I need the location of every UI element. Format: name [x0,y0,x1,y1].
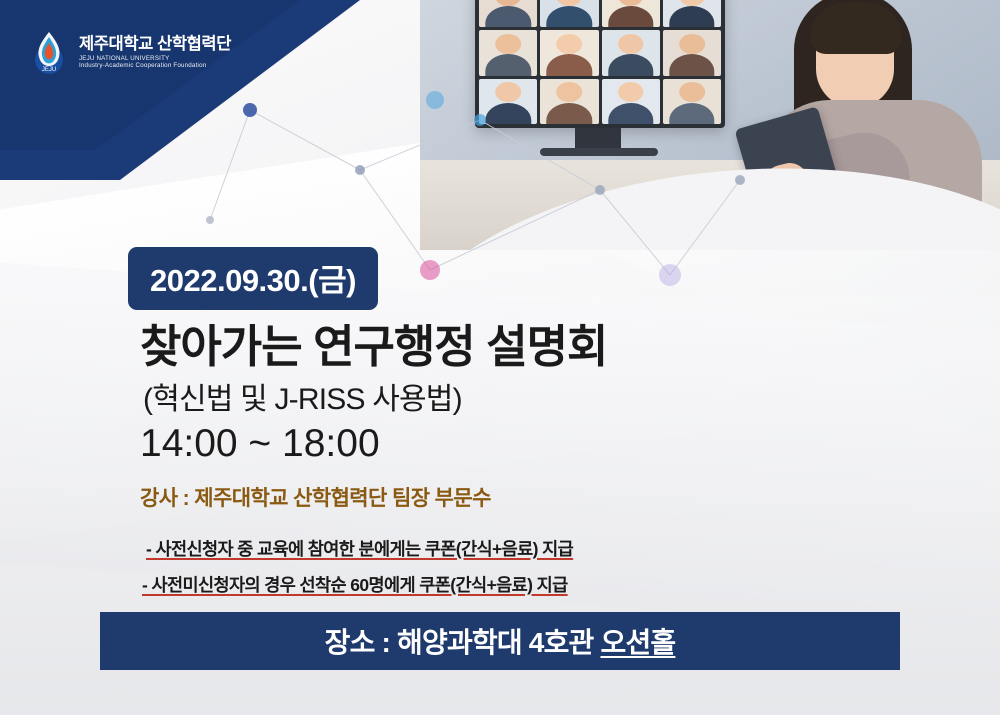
video-participant-tile [663,0,721,27]
logo-english-line2: Industry-Academic Cooperation Foundation [79,63,231,70]
event-place-label: 장소 : 해양과학대 4호관 [325,627,601,658]
video-call-monitor [475,0,725,128]
video-participant-tile [663,79,721,124]
event-note-1: - 사전신청자 중 교육에 참여한 분에게는 쿠폰(간식+음료) 지급 [146,536,573,561]
video-participant-tile [479,0,537,27]
logo-english-line1: JEJU NATIONAL UNIVERSITY [79,56,231,63]
video-participant-tile [540,0,598,27]
video-participant-tile [479,79,537,124]
event-time: 14:00 ~ 18:00 [140,422,380,466]
video-participant-tile [479,30,537,75]
event-note-1-text: - 사전신청자 중 교육에 참여한 분에게는 쿠폰(간식+음료) 지급 [146,539,573,559]
logo-text-block: 제주대학교 산학협력단 JEJU NATIONAL UNIVERSITY Ind… [79,36,231,70]
video-participant-grid [479,0,721,124]
poster-canvas: JEJU 제주대학교 산학협력단 JEJU NATIONAL UNIVERSIT… [0,0,1000,715]
monitor-base [540,148,658,156]
svg-text:JEJU: JEJU [42,67,56,73]
jeju-national-university-flame-logo: JEJU [28,30,70,76]
hair-front [810,2,902,54]
video-participant-tile [540,79,598,124]
video-participant-tile [602,79,660,124]
logo-korean-name: 제주대학교 산학협력단 [79,36,231,54]
video-participant-tile [602,30,660,75]
video-conference-photo [420,0,1000,250]
event-date-badge: 2022.09.30.(금) [128,247,378,310]
event-note-2: - 사전미신청자의 경우 선착순 60명에게 쿠폰(간식+음료) 지급 [142,572,568,597]
event-place-bar: 장소 : 해양과학대 4호관 오션홀 [100,612,900,670]
video-participant-tile [602,0,660,27]
video-participant-tile [663,30,721,75]
event-note-2-text: - 사전미신청자의 경우 선착순 60명에게 쿠폰(간식+음료) 지급 [142,575,568,595]
event-place-venue: 오션홀 [600,627,675,658]
event-place-text: 장소 : 해양과학대 4호관 오션홀 [325,621,676,661]
event-lecturer: 강사 : 제주대학교 산학협력단 팀장 부문수 [140,482,491,512]
video-participant-tile [540,30,598,75]
monitor-stand [575,128,621,150]
event-subtitle: (혁신법 및 J-RISS 사용법) [143,374,462,418]
event-title: 찾아가는 연구행정 설명회 [140,310,607,375]
university-logo: JEJU 제주대학교 산학협력단 JEJU NATIONAL UNIVERSIT… [28,30,231,76]
